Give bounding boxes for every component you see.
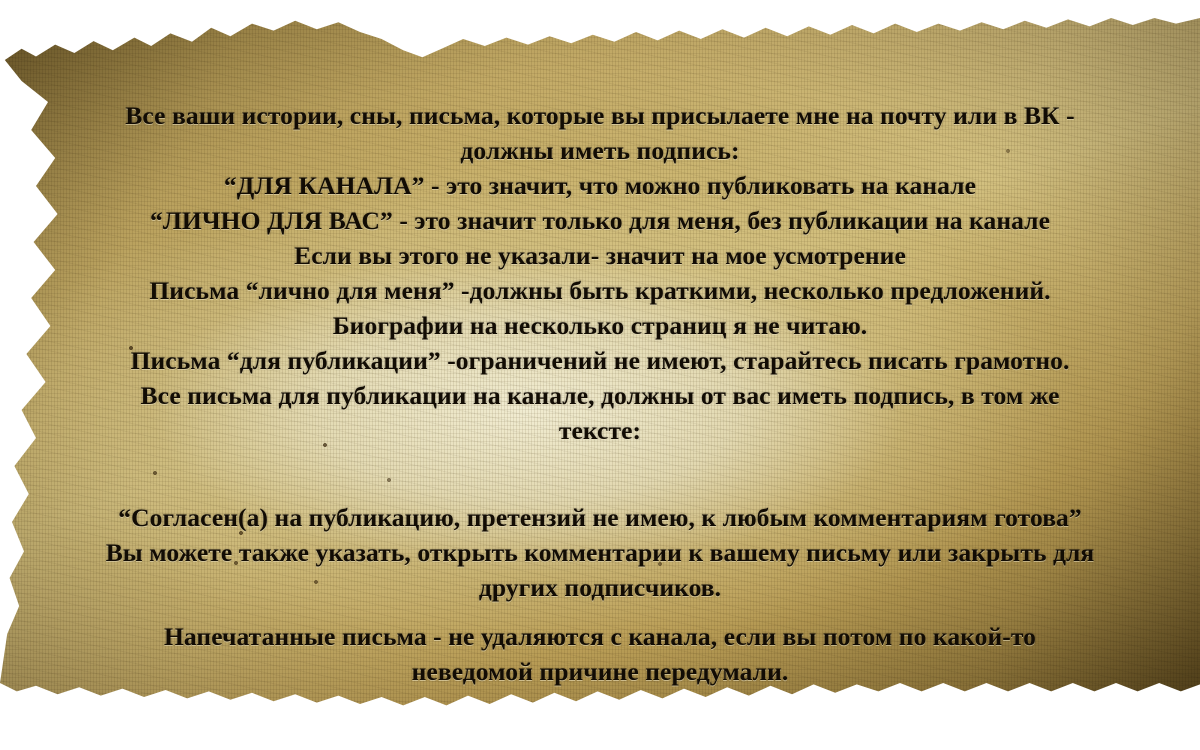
paragraph-spacer-2: [0, 605, 1200, 619]
text-line: “Согласен(а) на публикацию, претензий не…: [0, 500, 1200, 535]
paragraph-deletion-policy: Напечатанные письма - не удаляются с кан…: [0, 619, 1200, 689]
paragraph-submission-rules: Все ваши истории, сны, письма, которые в…: [0, 98, 1200, 448]
notice-text-block: Все ваши истории, сны, письма, которые в…: [0, 0, 1200, 689]
text-line: Письма “лично для меня” -должны быть кра…: [0, 273, 1200, 308]
text-line: других подписчиков.: [0, 570, 1200, 605]
text-line: Биографии на несколько страниц я не чита…: [0, 308, 1200, 343]
paragraph-consent-wording: “Согласен(а) на публикацию, претензий не…: [0, 500, 1200, 605]
text-line: Все ваши истории, сны, письма, которые в…: [0, 98, 1200, 133]
text-line: должны иметь подпись:: [0, 133, 1200, 168]
text-line: Все письма для публикации на канале, дол…: [0, 378, 1200, 413]
paragraph-spacer: [0, 448, 1200, 500]
text-line: неведомой причине передумали.: [0, 654, 1200, 689]
text-line: Вы можете также указать, открыть коммент…: [0, 535, 1200, 570]
screenshot-root: Все ваши истории, сны, письма, которые в…: [0, 0, 1200, 750]
text-line: тексте:: [0, 413, 1200, 448]
text-line: Напечатанные письма - не удаляются с кан…: [0, 619, 1200, 654]
text-line: “ДЛЯ КАНАЛА” - это значит, что можно пуб…: [0, 168, 1200, 203]
text-line: Если вы этого не указали- значит на мое …: [0, 238, 1200, 273]
text-line: “ЛИЧНО ДЛЯ ВАС” - это значит только для …: [0, 203, 1200, 238]
text-line: Письма “для публикации” -ограничений не …: [0, 343, 1200, 378]
